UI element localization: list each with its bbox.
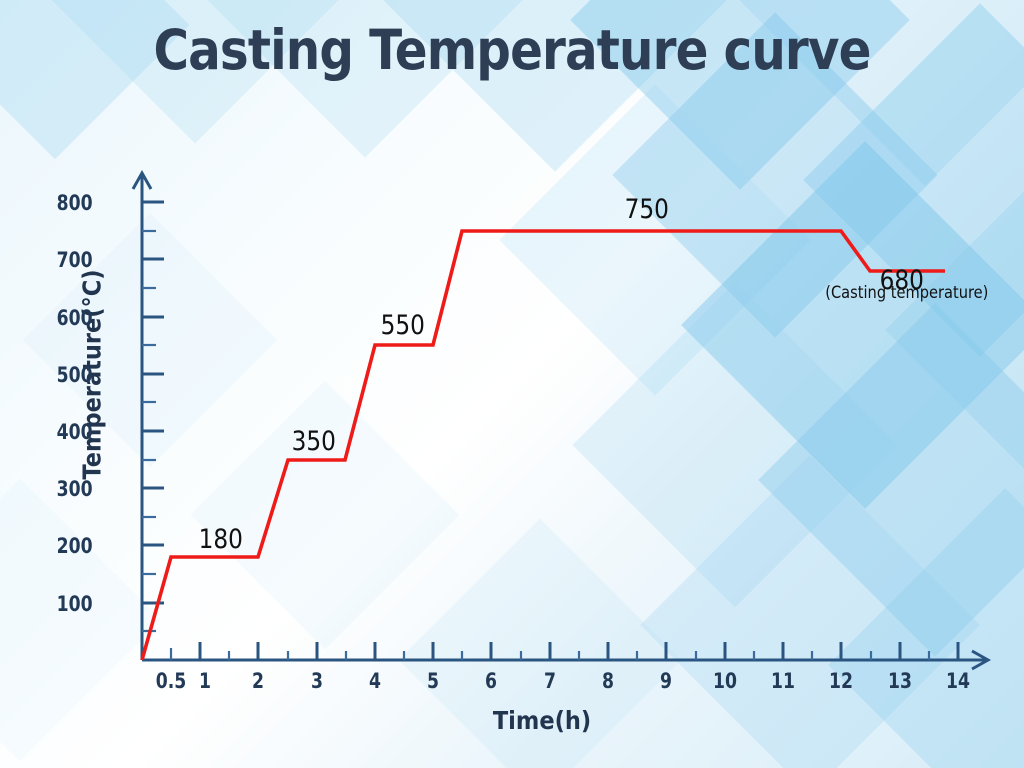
slide-canvas: Casting Temperature curve [0,0,1024,768]
x-tick-label-5: 5 [408,669,457,693]
data-label-750: 750 [625,194,669,225]
x-tick-label-11: 11 [758,669,807,693]
y-tick-label-800: 800 [43,191,92,215]
y-tick-label-200: 200 [43,534,92,558]
x-tick-label-2: 2 [233,669,282,693]
x-tick-label-1: 1 [180,669,229,693]
data-label-180: 180 [199,524,243,555]
y-tick-label-400: 400 [43,420,92,444]
x-tick-label-7: 7 [525,669,574,693]
x-axis [142,651,988,669]
x-tick-label-4: 4 [350,669,399,693]
y-tick-label-500: 500 [43,363,92,387]
x-tick-label-3: 3 [292,669,341,693]
y-tick-label-100: 100 [43,592,92,616]
x-tick-label-14: 14 [933,669,982,693]
x-tick-label-12: 12 [816,669,865,693]
x-tick-label-13: 13 [875,669,924,693]
casting-temperature-note: (Casting temperature) [825,283,988,303]
data-label-350: 350 [292,426,336,457]
x-tick-label-9: 9 [641,669,690,693]
y-tick-label-300: 300 [43,477,92,501]
x-tick-label-8: 8 [583,669,632,693]
temperature-chart [0,0,1024,768]
x-axis-title: Time(h) [407,706,677,735]
y-axis [133,173,151,660]
y-tick-label-700: 700 [43,248,92,272]
data-label-550: 550 [381,310,425,341]
y-tick-label-600: 600 [43,306,92,330]
x-tick-label-10: 10 [700,669,749,693]
x-tick-label-6: 6 [466,669,515,693]
